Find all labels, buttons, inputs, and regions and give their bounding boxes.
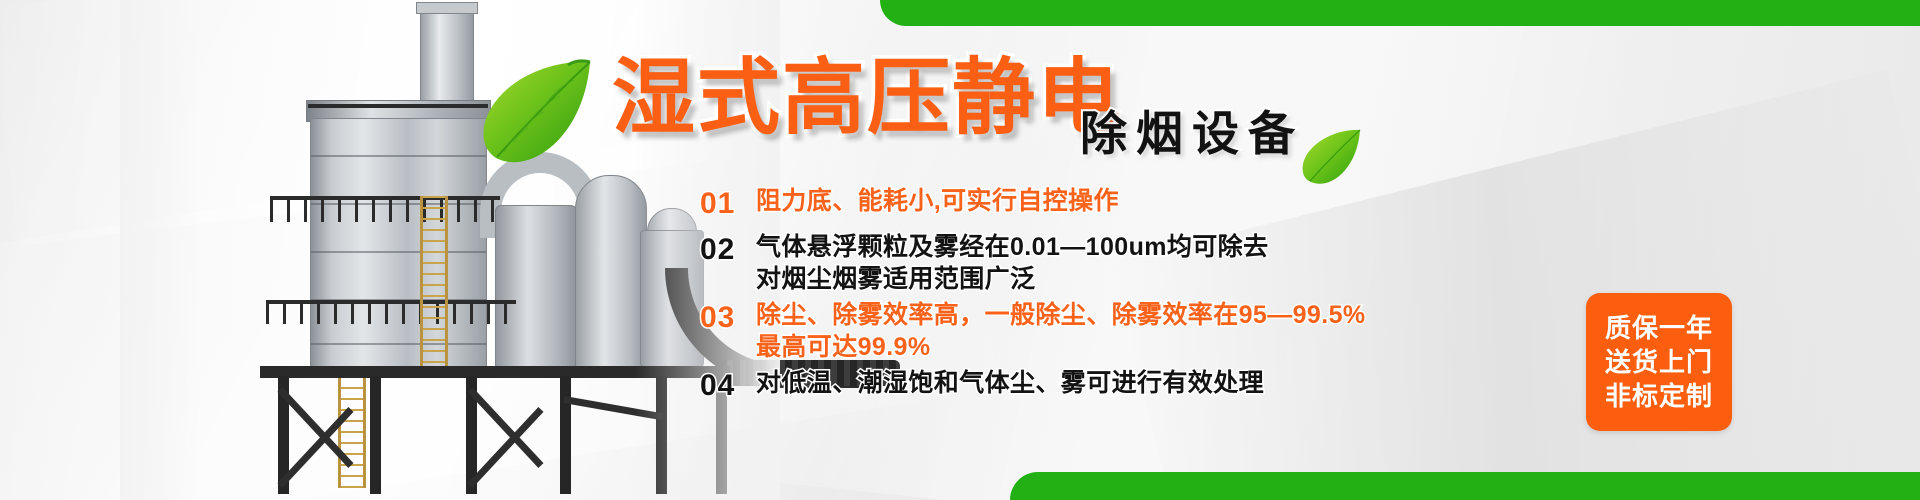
feature-line-1: 除尘、除雾效率高，一般除尘、除雾效率在95—99.5% bbox=[756, 301, 1366, 329]
green-band-bottom bbox=[1010, 472, 1920, 500]
guarantee-badge: 质保一年 送货上门 非标定制 bbox=[1586, 293, 1732, 431]
badge-line-delivery: 送货上门 bbox=[1605, 345, 1713, 379]
feature-item-03: 03 除尘、除雾效率高，一般除尘、除雾效率在95—99.5% 最高可达99.9% bbox=[700, 300, 1366, 364]
green-band-top bbox=[880, 0, 1920, 26]
feature-text: 对低温、潮湿饱和气体尘、雾可进行有效处理 bbox=[756, 368, 1264, 400]
feature-text: 阻力底、能耗小,可实行自控操作 bbox=[756, 186, 1119, 218]
feature-number: 04 bbox=[700, 368, 756, 405]
feature-number: 03 bbox=[700, 300, 756, 337]
feature-text: 气体悬浮颗粒及雾经在0.01—100um均可除去 对烟尘烟雾适用范围广泛 bbox=[756, 232, 1268, 296]
feature-line-2: 最高可达99.9% bbox=[756, 332, 1366, 364]
feature-line-1: 对低温、潮湿饱和气体尘、雾可进行有效处理 bbox=[756, 369, 1264, 397]
feature-line-1: 气体悬浮颗粒及雾经在0.01—100um均可除去 bbox=[756, 233, 1268, 261]
badge-line-custom: 非标定制 bbox=[1605, 379, 1713, 413]
page-subtitle: 除烟设备 bbox=[1080, 110, 1304, 157]
leaf-icon bbox=[478, 58, 593, 163]
feature-number: 02 bbox=[700, 232, 756, 269]
leaf-icon bbox=[1300, 128, 1362, 184]
feature-item-04: 04 对低温、潮湿饱和气体尘、雾可进行有效处理 bbox=[700, 368, 1264, 405]
feature-line-2: 对烟尘烟雾适用范围广泛 bbox=[756, 264, 1268, 296]
feature-text: 除尘、除雾效率高，一般除尘、除雾效率在95—99.5% 最高可达99.9% bbox=[756, 300, 1366, 364]
promo-banner: 湿式高压静电 除烟设备 01 阻力底、能耗小,可实行自控操作 02 气体悬浮颗粒… bbox=[0, 0, 1920, 500]
badge-line-warranty: 质保一年 bbox=[1605, 311, 1713, 345]
feature-line-1: 阻力底、能耗小,可实行自控操作 bbox=[756, 187, 1119, 215]
feature-number: 01 bbox=[700, 186, 756, 223]
feature-item-02: 02 气体悬浮颗粒及雾经在0.01—100um均可除去 对烟尘烟雾适用范围广泛 bbox=[700, 232, 1268, 296]
page-title: 湿式高压静电 bbox=[612, 56, 1122, 139]
feature-item-01: 01 阻力底、能耗小,可实行自控操作 bbox=[700, 186, 1119, 223]
